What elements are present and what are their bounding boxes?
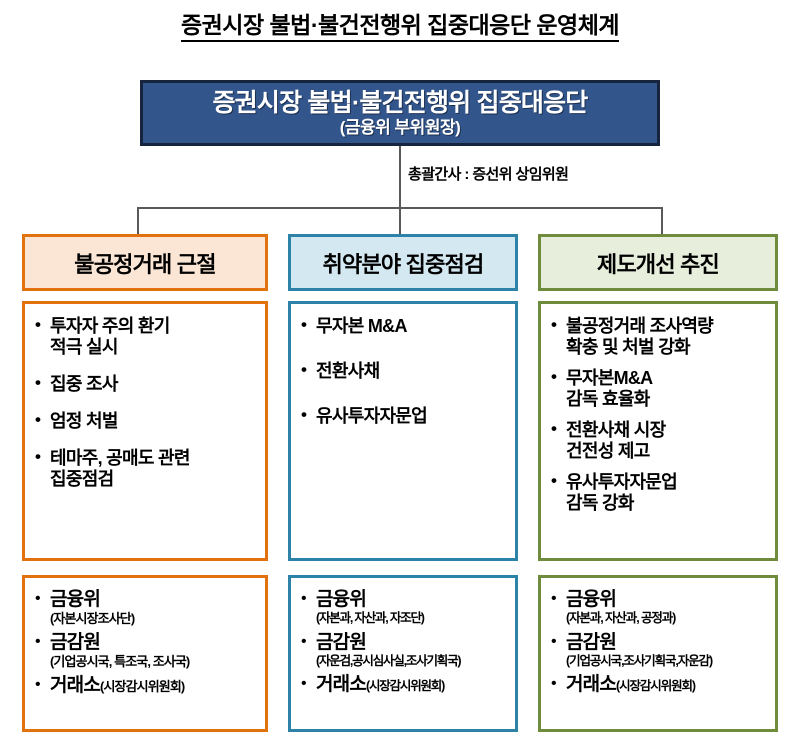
agency-item: 금융위 (자본시장조사단) <box>35 590 259 626</box>
connector-drop-left <box>137 207 139 235</box>
root-organization-subtitle: (금융위 부위원장) <box>340 118 461 137</box>
column-footer-0: 금융위 (자본시장조사단) 금감원 (기업공시국, 특조국, 조사국) 거래소(… <box>22 575 268 732</box>
root-organization-box: 증권시장 불법·불건전행위 집중대응단 (금융위 부위원장) <box>140 80 660 146</box>
task-list-2: 불공정거래 조사역량 확충 및 처벌 강화 무자본M&A 감독 효율화 전환사채… <box>551 316 767 514</box>
agency-item: 거래소(시장감시위원회) <box>35 676 259 697</box>
agency-list-1: 금융위 (자본과, 자산과, 자조단) 금감원 (자운검,공시심사실,조사기획국… <box>301 590 509 696</box>
column-system-improvement: 제도개선 추진 불공정거래 조사역량 확충 및 처벌 강화 무자본M&A 감독 … <box>538 234 778 732</box>
task-item: 불공정거래 조사역량 확충 및 처벌 강화 <box>551 316 767 358</box>
page-title-text: 증권시장 불법·불건전행위 집중대응단 운영체계 <box>181 12 619 42</box>
column-body-0: 투자자 주의 환기 적극 실시 집중 조사 엄정 처벌 테마주, 공매도 관련 … <box>22 301 268 561</box>
column-header-1: 취약분야 집중점검 <box>288 234 518 291</box>
task-item: 유사투자자문업 감독 강화 <box>551 472 767 514</box>
column-header-2: 제도개선 추진 <box>538 234 778 291</box>
agency-item: 금융위 (자본과, 자산과, 공정과) <box>551 590 769 626</box>
connector-drop-right <box>661 207 663 235</box>
agency-item: 거래소(시장감시위원회) <box>301 675 509 696</box>
root-organization-name: 증권시장 불법·불건전행위 집중대응단 <box>212 89 587 117</box>
task-item: 투자자 주의 환기 적극 실시 <box>35 316 257 358</box>
column-unfair-trading: 불공정거래 근절 투자자 주의 환기 적극 실시 집중 조사 엄정 처벌 테마주… <box>22 234 268 732</box>
task-item: 집중 조사 <box>35 374 257 395</box>
task-list-0: 투자자 주의 환기 적극 실시 집중 조사 엄정 처벌 테마주, 공매도 관련 … <box>35 316 257 490</box>
task-item: 무자본M&A 감독 효율화 <box>551 368 767 410</box>
agency-list-0: 금융위 (자본시장조사단) 금감원 (기업공시국, 특조국, 조사국) 거래소(… <box>35 590 259 697</box>
connector-vertical-main <box>399 146 401 208</box>
column-header-0: 불공정거래 근절 <box>22 234 268 291</box>
page-title: 증권시장 불법·불건전행위 집중대응단 운영체계 <box>0 6 800 40</box>
task-item: 엄정 처벌 <box>35 411 257 432</box>
task-list-1: 무자본 M&A 전환사채 유사투자자문업 <box>301 316 507 427</box>
task-item: 유사투자자문업 <box>301 406 507 427</box>
task-item: 전환사채 시장 건전성 제고 <box>551 420 767 462</box>
task-item: 테마주, 공매도 관련 집중점검 <box>35 448 257 490</box>
column-footer-2: 금융위 (자본과, 자산과, 공정과) 금감원 (기업공시국,조사기획국,자운감… <box>538 575 778 732</box>
connector-label-secretary: 총괄간사 : 증선위 상임위원 <box>408 163 568 184</box>
column-body-2: 불공정거래 조사역량 확충 및 처벌 강화 무자본M&A 감독 효율화 전환사채… <box>538 301 778 561</box>
agency-list-2: 금융위 (자본과, 자산과, 공정과) 금감원 (기업공시국,조사기획국,자운감… <box>551 590 769 696</box>
column-vulnerable-areas: 취약분야 집중점검 무자본 M&A 전환사채 유사투자자문업 금융위 (자본과,… <box>288 234 518 732</box>
agency-item: 금감원 (기업공시국, 특조국, 조사국) <box>35 633 259 669</box>
task-item: 전환사채 <box>301 361 507 382</box>
agency-item: 금감원 (기업공시국,조사기획국,자운감) <box>551 633 769 669</box>
column-footer-1: 금융위 (자본과, 자산과, 자조단) 금감원 (자운검,공시심사실,조사기획국… <box>288 575 518 732</box>
task-item: 무자본 M&A <box>301 316 507 337</box>
column-body-1: 무자본 M&A 전환사채 유사투자자문업 <box>288 301 518 561</box>
agency-item: 금융위 (자본과, 자산과, 자조단) <box>301 590 509 626</box>
agency-item: 금감원 (자운검,공시심사실,조사기획국) <box>301 633 509 669</box>
agency-item: 거래소(시장감시위원회) <box>551 675 769 696</box>
connector-drop-center <box>399 207 401 235</box>
